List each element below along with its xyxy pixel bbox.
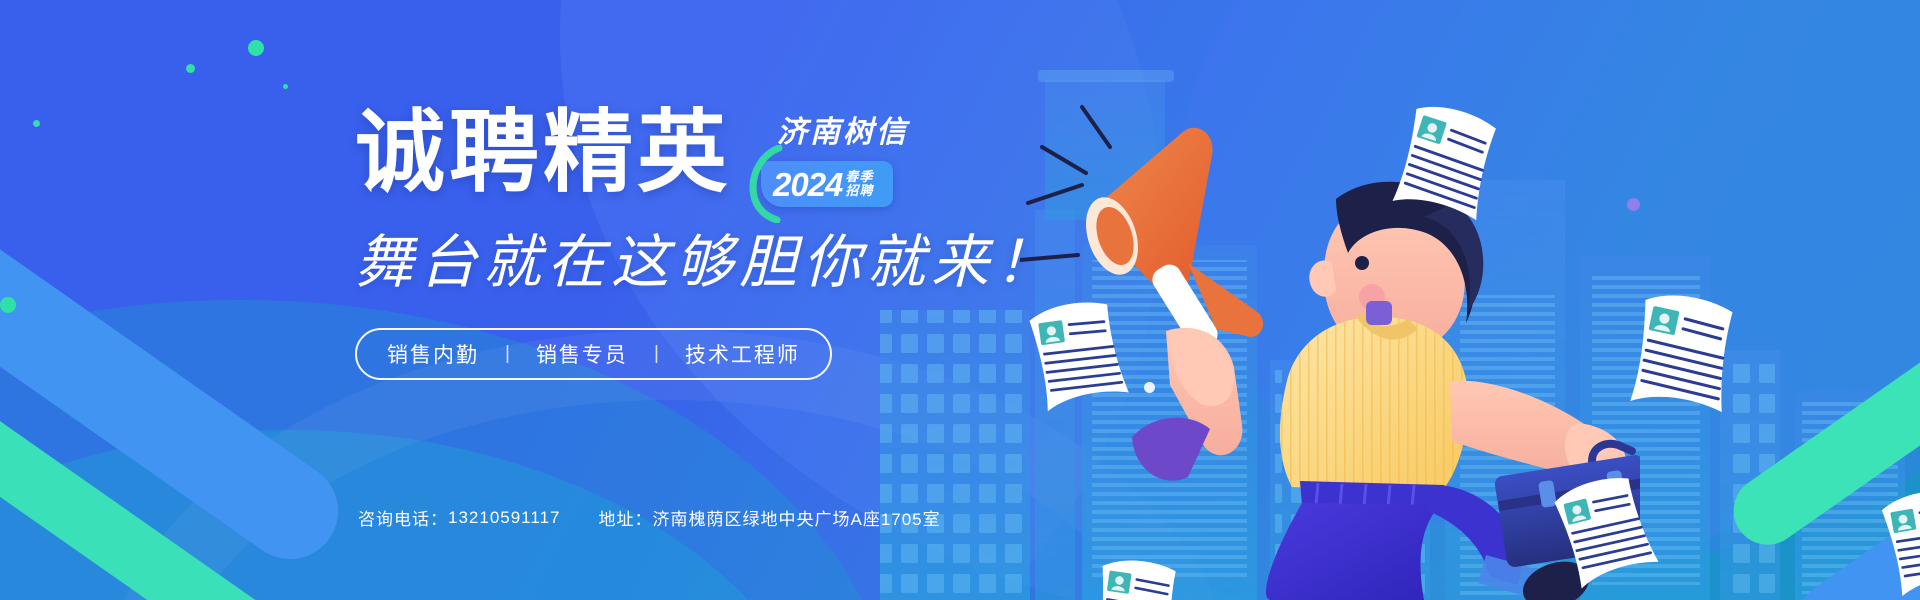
- job-tag-2[interactable]: 技术工程师: [685, 339, 800, 369]
- job-tags-pill: 销售内勤 | 销售专员 | 技术工程师: [355, 328, 832, 380]
- decorative-dot: [248, 40, 264, 56]
- decorative-dot: [0, 297, 16, 313]
- brand-name: 济南树信: [747, 118, 909, 148]
- megaphone-icon: [1077, 128, 1263, 354]
- job-tag-0[interactable]: 销售内勤: [387, 339, 479, 369]
- subtitle: 舞台就在这够胆你就来！: [355, 233, 1075, 294]
- sleeve-accent: [1132, 418, 1210, 481]
- phone-number[interactable]: 13210591117: [448, 508, 560, 528]
- brand-badge-group: 济南树信 2024 春季 招聘: [747, 108, 909, 207]
- hero-illustration: [1020, 85, 1640, 600]
- banner-copy: 诚聘精英 济南树信 2024 春季 招聘 舞台就在这够胆你就来！ 销售内勤 |: [355, 108, 1075, 380]
- decorative-dot: [33, 120, 40, 127]
- headline-row: 诚聘精英 济南树信 2024 春季 招聘: [355, 108, 1075, 207]
- recruitment-banner: 诚聘精英 济南树信 2024 春季 招聘 舞台就在这够胆你就来！ 销售内勤 |: [0, 0, 1920, 600]
- year-badge: 2024 春季 招聘: [761, 161, 893, 207]
- collar: [1366, 301, 1392, 325]
- tag-separator: |: [505, 343, 510, 365]
- badge-season: 春季 招聘: [845, 170, 873, 198]
- phone-label: 咨询电话：: [358, 505, 448, 530]
- address-value: 济南槐荫区绿地中央广场A座1705室: [652, 505, 940, 530]
- contact-info: 咨询电话： 13210591117 地址： 济南槐荫区绿地中央广场A座1705室: [358, 505, 941, 530]
- decorative-dot: [186, 64, 195, 73]
- job-tag-1[interactable]: 销售专员: [536, 339, 628, 369]
- page-title: 诚聘精英: [355, 108, 731, 198]
- decorative-dot: [283, 84, 288, 89]
- tag-separator: |: [654, 343, 659, 365]
- badge-season-line1: 春季: [845, 170, 873, 184]
- address-label: 地址：: [598, 505, 652, 530]
- swoosh-icon: [745, 145, 785, 223]
- badge-season-line2: 招聘: [845, 184, 873, 198]
